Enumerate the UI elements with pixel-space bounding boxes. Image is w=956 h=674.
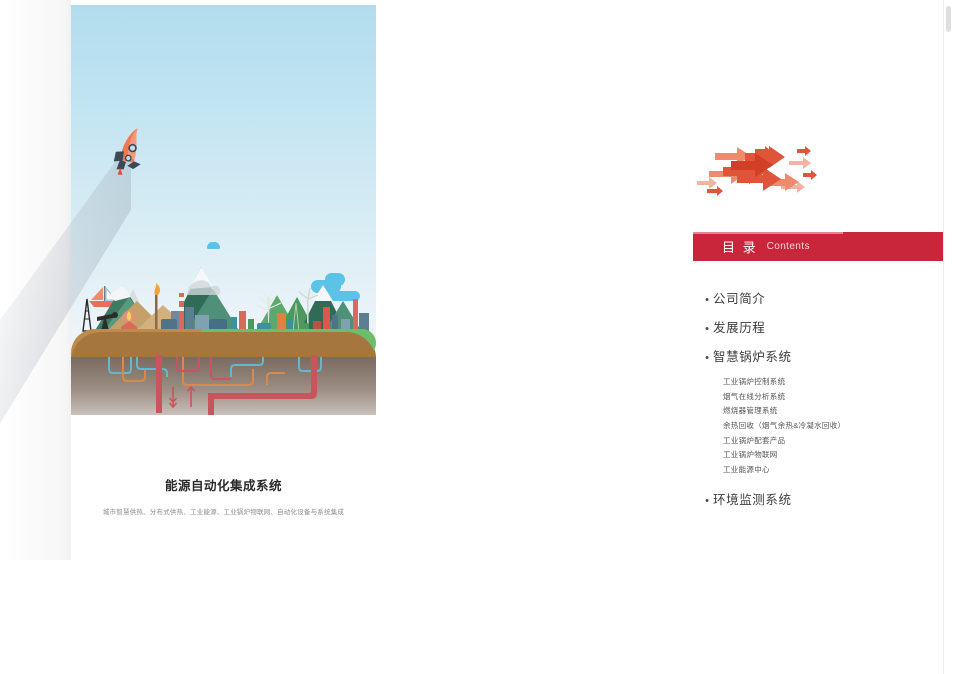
toc-subitem[interactable]: 工业锅炉配套产品 (723, 434, 954, 449)
toc-item-label: 环境监测系统 (713, 489, 792, 508)
page-subtitle: 城市智慧供热、分布式供热、工业能源、工业锅炉物联网、自动化设备与系统集成 (71, 506, 376, 516)
toc-subitem[interactable]: 余热回收（烟气余热&冷凝水回收） (723, 419, 954, 434)
toc-subitem[interactable]: 燃烧器管理系统 (723, 404, 954, 419)
toc-item-environment-monitoring[interactable]: • 环境监测系统 (701, 489, 954, 508)
toc-item-smart-boiler-system[interactable]: • 智慧锅炉系统 (701, 346, 954, 365)
toc-item-label: 公司简介 (713, 288, 765, 307)
page-title: 能源自动化集成系统 (71, 475, 376, 494)
contents-title-cn: 目 录 (722, 237, 758, 256)
red-arrows-logo (693, 145, 823, 201)
toc-item-label: 智慧锅炉系统 (713, 346, 792, 365)
bullet-icon: • (701, 295, 713, 306)
slide-contents[interactable]: 目 录 Contents • 公司简介 • 发展历程 • 智慧锅炉系统 工业锅炉… (693, 140, 954, 540)
toc-item-company-intro[interactable]: • 公司简介 (701, 288, 954, 307)
pipeline-network (71, 355, 376, 415)
contents-title-en: Contents (767, 241, 810, 252)
document-viewer[interactable]: 能源自动化集成系统 城市智慧供热、分布式供热、工业能源、工业锅炉物联网、自动化设… (0, 0, 956, 674)
toc-item-history[interactable]: • 发展历程 (701, 317, 954, 336)
toc-subitem[interactable]: 工业锅炉控制系统 (723, 375, 954, 390)
table-of-contents: • 公司简介 • 发展历程 • 智慧锅炉系统 工业锅炉控制系统 烟气在线分析系统… (701, 288, 954, 518)
energy-landscape-illustration (71, 5, 376, 415)
slide-cover[interactable]: 能源自动化集成系统 城市智慧供热、分布式供热、工业能源、工业锅炉物联网、自动化设… (71, 5, 376, 518)
toc-subitem[interactable]: 工业锅炉物联网 (723, 448, 954, 463)
contents-banner: 目 录 Contents (693, 232, 954, 261)
scrollbar-thumb[interactable] (946, 6, 951, 32)
toc-item-label: 发展历程 (713, 317, 765, 336)
vertical-scrollbar[interactable] (943, 0, 954, 674)
cover-title-block: 能源自动化集成系统 城市智慧供热、分布式供热、工业能源、工业锅炉物联网、自动化设… (71, 475, 376, 516)
toc-subitem[interactable]: 烟气在线分析系统 (723, 390, 954, 405)
bullet-icon: • (701, 324, 713, 335)
banner-sheen (693, 232, 843, 234)
bullet-icon: • (701, 496, 713, 507)
toc-subitem[interactable]: 工业能源中心 (723, 463, 954, 478)
bullet-icon: • (701, 353, 713, 364)
toc-sublist-smart-boiler: 工业锅炉控制系统 烟气在线分析系统 燃烧器管理系统 余热回收（烟气余热&冷凝水回… (723, 375, 954, 477)
